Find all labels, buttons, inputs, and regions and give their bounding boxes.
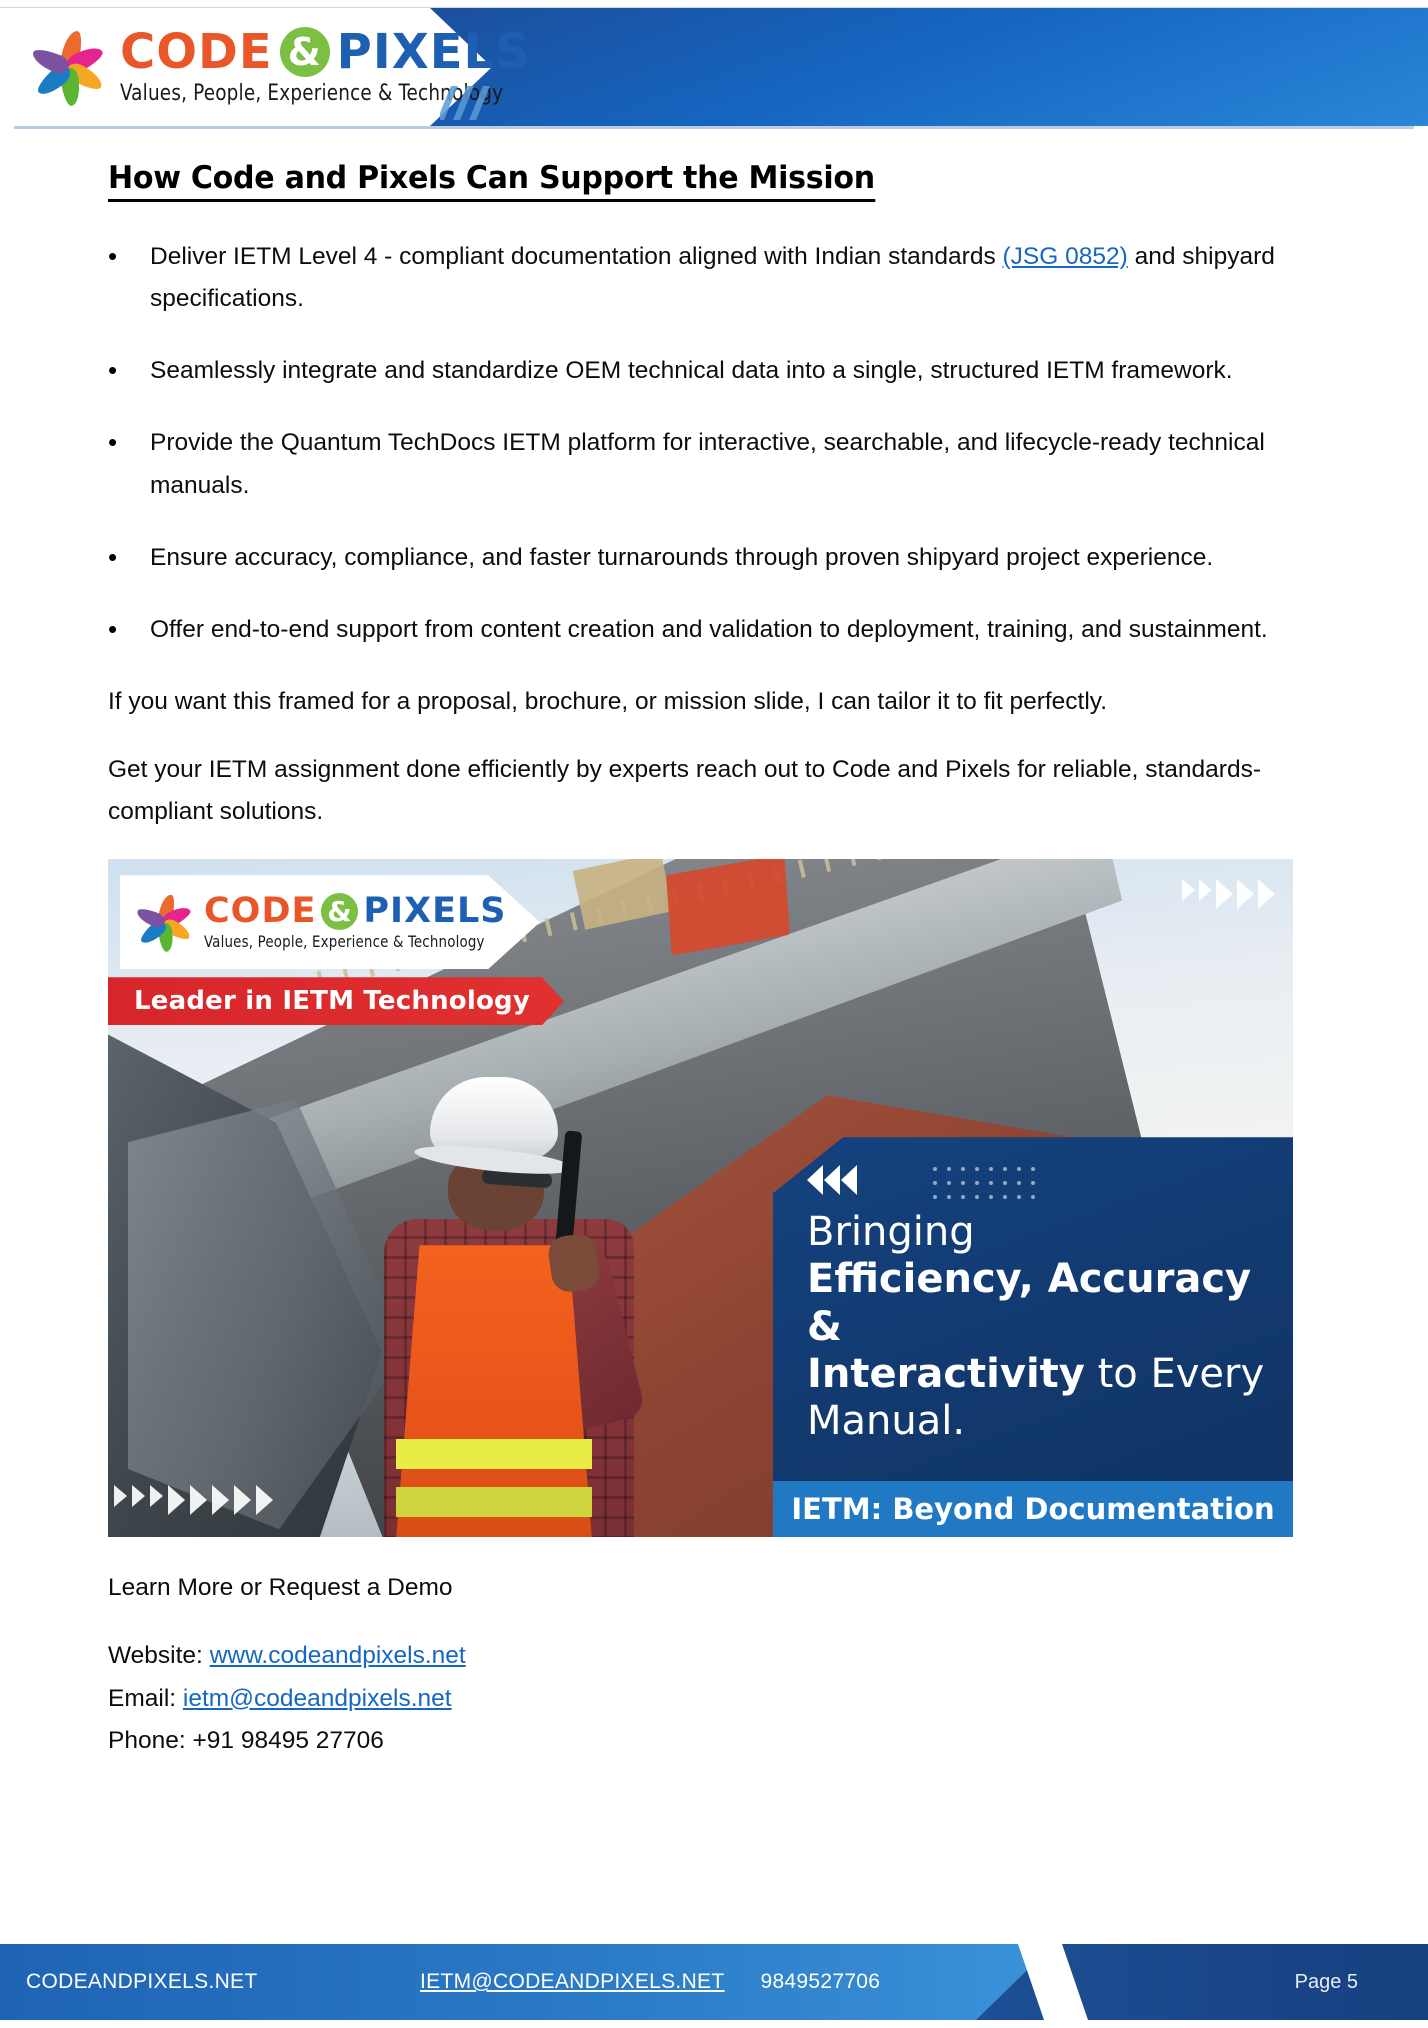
banner-company-logo: CODE & PIXELS Values, People, Experience… [120, 875, 540, 969]
contact-section: Learn More or Request a Demo Website: ww… [108, 1567, 1428, 1762]
worker-vest-band-lower [396, 1487, 592, 1517]
website-link[interactable]: www.codeandpixels.net [210, 1642, 466, 1669]
pinwheel-icon [20, 18, 116, 114]
jsg-0852-link[interactable]: (JSG 0852) [1003, 243, 1128, 270]
banner-logo-word-pixels: PIXELS [363, 894, 506, 929]
pinwheel-icon [128, 886, 200, 958]
bullet-text: Provide the Quantum TechDocs IETM platfo… [150, 429, 1265, 498]
logo-ampersand-badge: & [280, 27, 330, 77]
contact-website-row: Website: www.codeandpixels.net [108, 1635, 1428, 1677]
company-logo: CODE & PIXELS Values, People, Experience… [20, 14, 430, 118]
list-item: Deliver IETM Level 4 - compliant documen… [150, 236, 1338, 320]
footer-contact-group: IETM@CODEANDPIXELS.NET 9849527706 [420, 1944, 880, 2020]
page-number: Page 5 [1295, 1944, 1358, 2020]
banner-headline-panel: Bringing Efficiency, Accuracy & Interact… [773, 1137, 1293, 1537]
list-item: Seamlessly integrate and standardize OEM… [150, 350, 1338, 392]
email-link[interactable]: ietm@codeandpixels.net [183, 1685, 452, 1712]
contact-email-label: Email: [108, 1685, 183, 1712]
list-item: Offer end-to-end support from content cr… [150, 609, 1338, 651]
logo-word-pixels: PIXELS [337, 28, 531, 76]
banner-headline-3-rest: to Every [1085, 1351, 1264, 1397]
footer-site-text: CODEANDPIXELS.NET [26, 1944, 258, 2020]
contact-phone-value: +91 98495 27706 [192, 1727, 383, 1754]
banner-footer-bar: IETM: Beyond Documentation [773, 1481, 1293, 1537]
banner-ribbon: Leader in IETM Technology [108, 977, 564, 1025]
header-top-line [0, 0, 1428, 8]
banner-worker-figure [344, 1067, 674, 1537]
banner-ribbon-text: Leader in IETM Technology [134, 986, 530, 1016]
footer-email-link[interactable]: IETM@CODEANDPIXELS.NET [420, 1970, 724, 1994]
banner-logo-tagline: Values, People, Experience & Technology [204, 932, 485, 951]
ietm-promo-banner: CODE & PIXELS Values, People, Experience… [108, 859, 1293, 1537]
banner-logo-wordmark: CODE & PIXELS Values, People, Experience… [204, 893, 506, 951]
banner-headline-1: Bringing [807, 1209, 1267, 1256]
bullet-text: Ensure accuracy, compliance, and faster … [150, 544, 1213, 571]
banner-logo-ampersand-badge: & [321, 893, 358, 930]
bullet-text: Seamlessly integrate and standardize OEM… [150, 357, 1233, 384]
banner-headline-3: Interactivity to Every [807, 1351, 1267, 1398]
header-stripes-decoration [440, 86, 510, 120]
banner-headline-4: Manual. [807, 1398, 1267, 1445]
banner-footer-text: IETM: Beyond Documentation [791, 1492, 1274, 1526]
banner-dot-pattern [933, 1167, 1040, 1204]
contact-cta: Learn More or Request a Demo [108, 1567, 1428, 1609]
page-header: CODE & PIXELS Values, People, Experience… [0, 0, 1428, 136]
contact-phone-label: Phone: [108, 1727, 192, 1754]
support-bullet-list: Deliver IETM Level 4 - compliant documen… [0, 236, 1428, 651]
banner-chevrons-top-right [1182, 879, 1275, 909]
contact-email-row: Email: ietm@codeandpixels.net [108, 1678, 1428, 1720]
logo-word-code: CODE [120, 28, 273, 76]
banner-headline-3-bold: Interactivity [807, 1351, 1085, 1397]
document-body: How Code and Pixels Can Support the Miss… [0, 136, 1428, 1762]
bullet-text-pre: Deliver IETM Level 4 - compliant documen… [150, 243, 1003, 270]
worker-hand [546, 1232, 601, 1294]
header-rule [14, 126, 1414, 129]
list-item: Ensure accuracy, compliance, and faster … [150, 537, 1338, 579]
banner-chevrons-bottom-left [114, 1485, 273, 1515]
banner-logo-word-code: CODE [204, 894, 316, 929]
banner-headline-2: Efficiency, Accuracy & [807, 1256, 1267, 1350]
list-item: Provide the Quantum TechDocs IETM platfo… [150, 422, 1338, 506]
page-footer: CODEANDPIXELS.NET IETM@CODEANDPIXELS.NET… [0, 1936, 1428, 2028]
paragraph-tailor: If you want this framed for a proposal, … [108, 681, 1338, 723]
header-blue-banner [430, 8, 1428, 126]
footer-phone: 9849527706 [760, 1970, 880, 1994]
document-page: CODE & PIXELS Values, People, Experience… [0, 0, 1428, 2028]
contact-website-label: Website: [108, 1642, 210, 1669]
contact-details: Website: www.codeandpixels.net Email: ie… [108, 1635, 1428, 1761]
bullet-text: Offer end-to-end support from content cr… [150, 616, 1268, 643]
paragraph-cta: Get your IETM assignment done efficientl… [108, 749, 1338, 833]
worker-vest-band-upper [396, 1439, 592, 1469]
page-title: How Code and Pixels Can Support the Miss… [108, 160, 875, 202]
contact-phone-row: Phone: +91 98495 27706 [108, 1720, 1428, 1762]
